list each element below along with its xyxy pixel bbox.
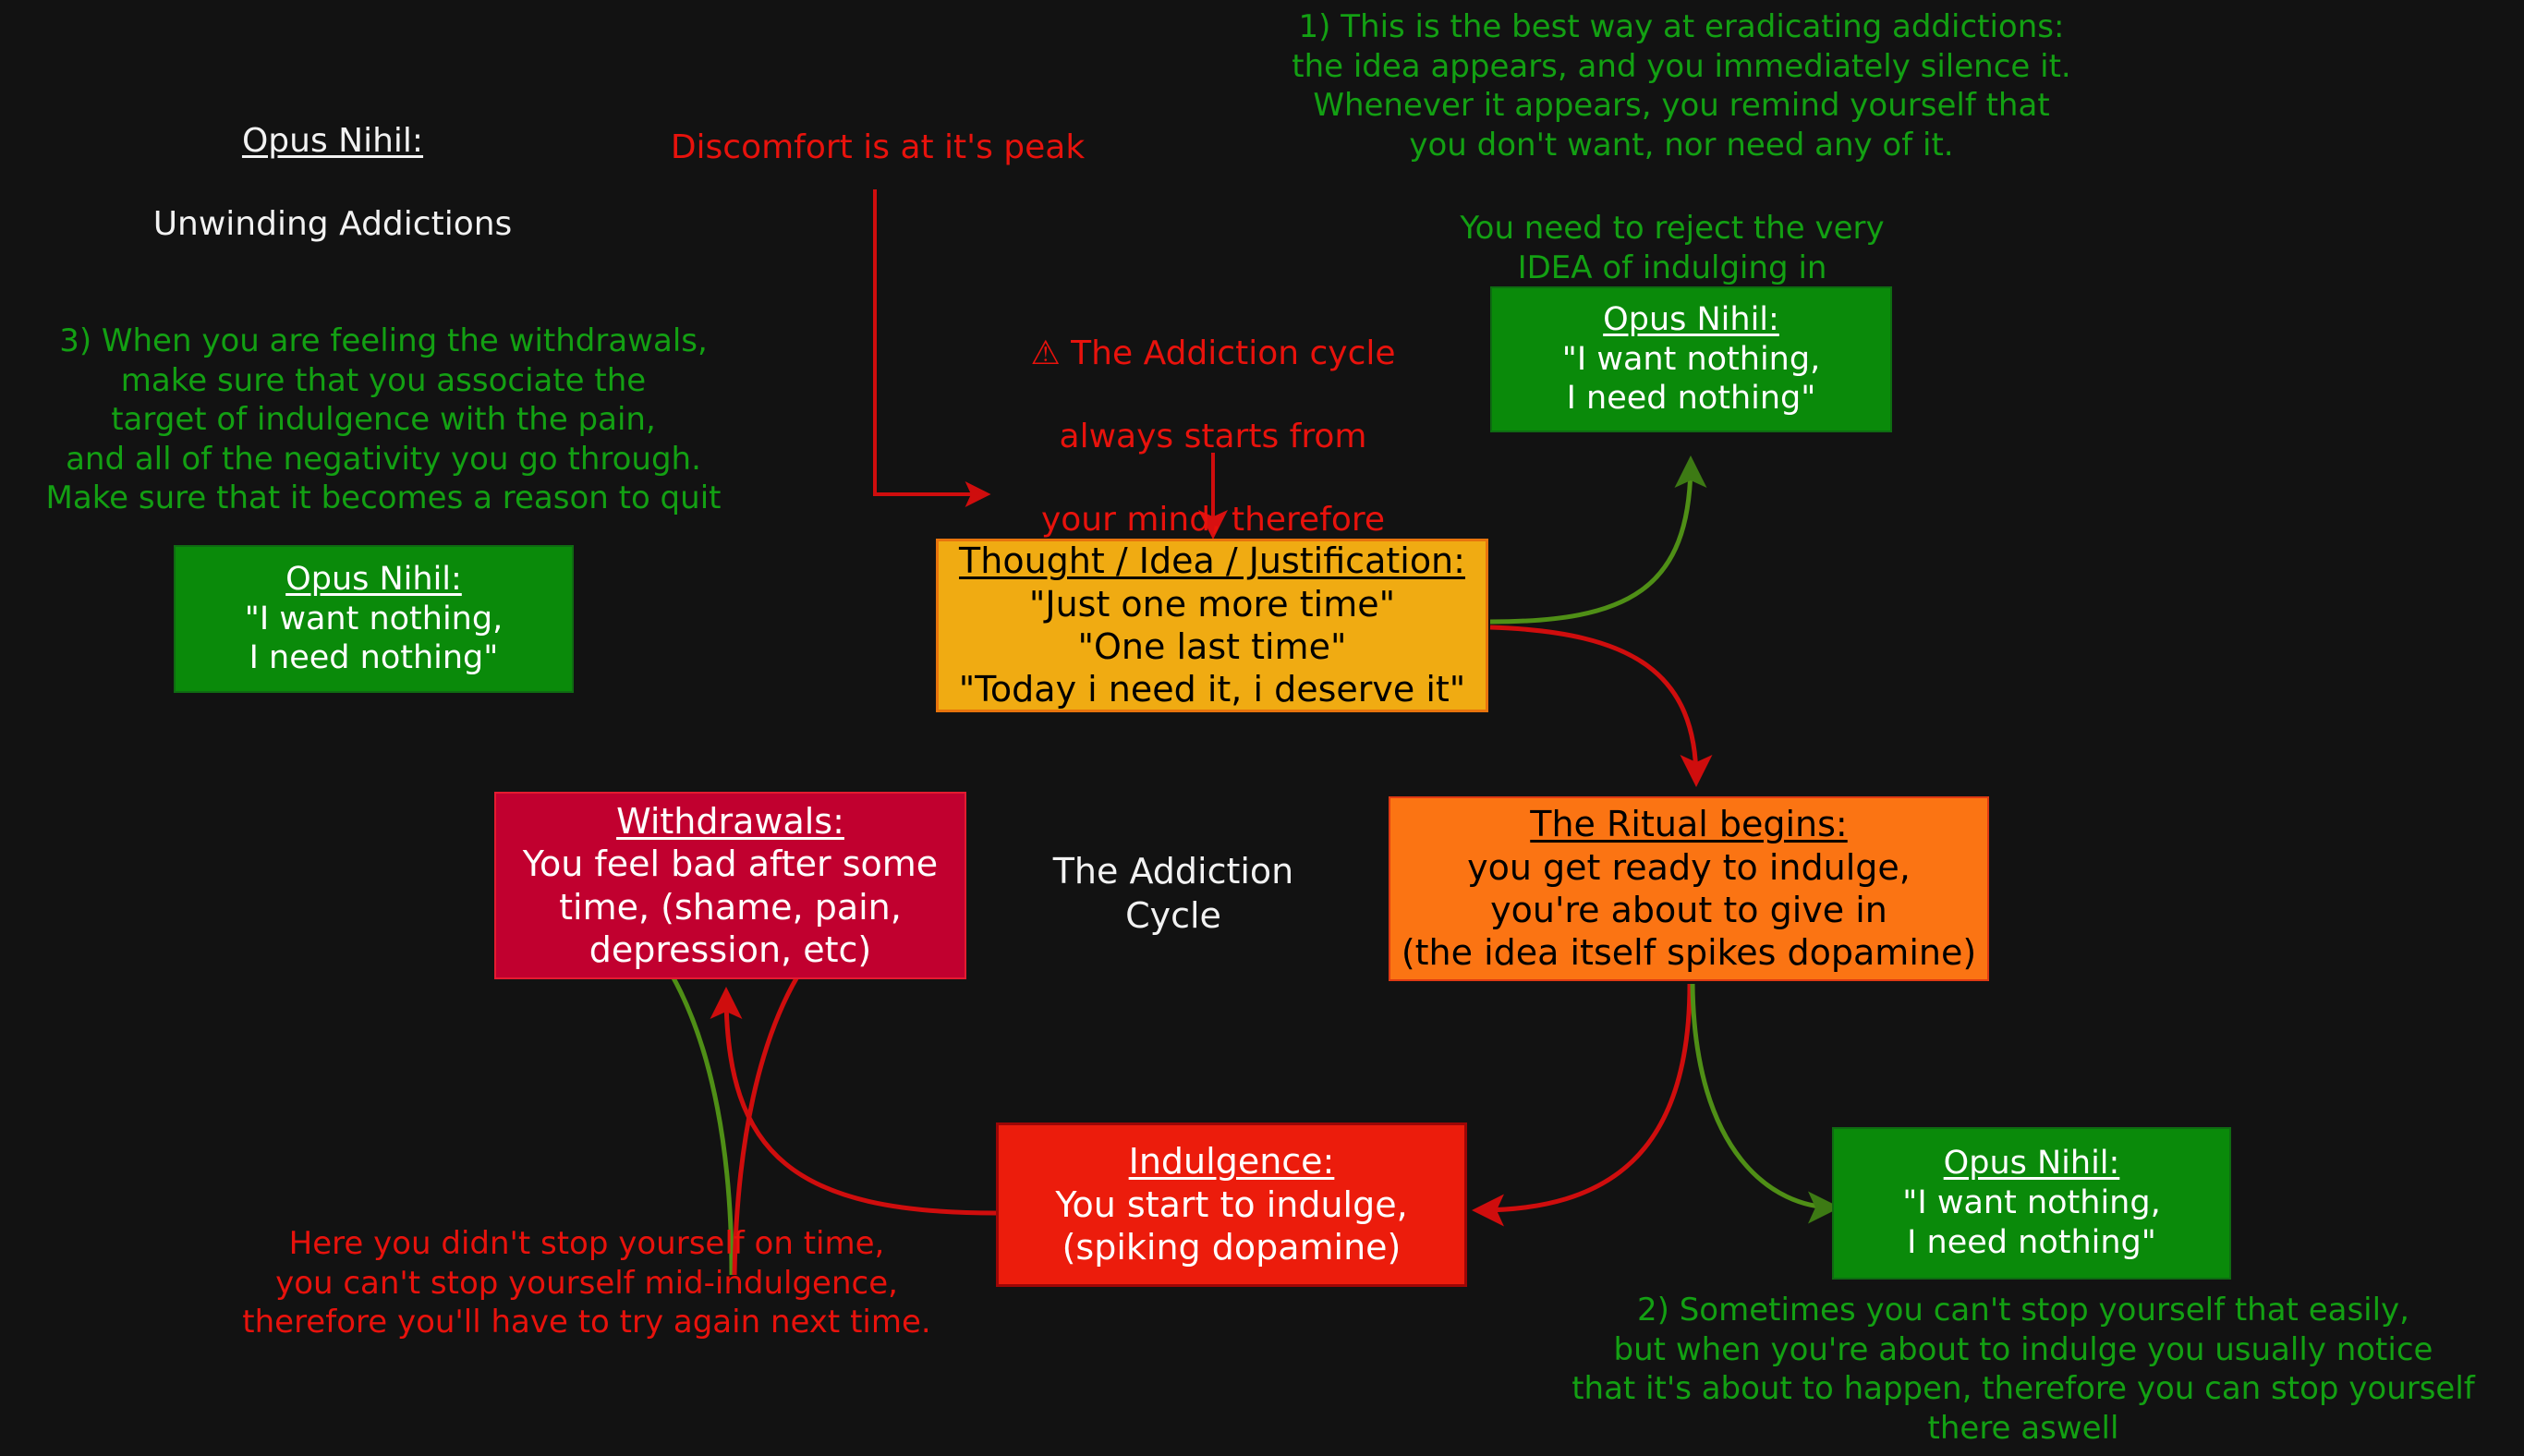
addiction-cycle-diagram: Opus Nihil: Unwinding Addictions Discomf…	[0, 0, 2524, 1456]
node-body: You start to indulge, (spiking dopamine)	[1055, 1183, 1407, 1269]
arrow-thought-to-ritual	[1490, 627, 1696, 781]
node-opus-nihil-left[interactable]: Opus Nihil: "I want nothing, I need noth…	[174, 545, 574, 693]
node-title: Indulgence:	[1129, 1140, 1335, 1183]
node-opus-nihil-bottom-right[interactable]: Opus Nihil: "I want nothing, I need noth…	[1832, 1127, 2231, 1280]
node-title: Withdrawals:	[616, 800, 844, 843]
node-body: "I want nothing, I need nothing"	[245, 600, 503, 678]
page-title: Opus Nihil: Unwinding Addictions	[111, 79, 554, 286]
warning-line-3: your mind, therefore	[1014, 499, 1412, 540]
page-title-line2: Unwinding Addictions	[111, 203, 554, 245]
page-title-line1: Opus Nihil:	[111, 120, 554, 162]
node-withdrawals[interactable]: Withdrawals: You feel bad after some tim…	[494, 792, 966, 979]
node-title: The Ritual begins:	[1530, 803, 1847, 845]
node-the-ritual-begins[interactable]: The Ritual begins: you get ready to indu…	[1389, 796, 1989, 981]
arrow-indulgence-to-withdrawals	[726, 993, 996, 1213]
arrow-discomfort-pointer	[875, 189, 986, 494]
arrow-ritual-to-indulgence	[1478, 984, 1690, 1210]
annotation-note-one: 1) This is the best way at eradicating a…	[1266, 7, 2097, 164]
node-thought-idea-justification[interactable]: Thought / Idea / Justification: "Just on…	[936, 539, 1488, 712]
node-indulgence[interactable]: Indulgence: You start to indulge, (spiki…	[996, 1122, 1467, 1287]
node-body: "I want nothing, I need nothing"	[1562, 340, 1820, 419]
annotation-note-two: 2) Sometimes you can't stop yourself tha…	[1524, 1291, 2522, 1448]
center-label-addiction-cycle: The Addiction Cycle	[1016, 850, 1330, 938]
node-title: Opus Nihil:	[285, 560, 462, 600]
node-title: Opus Nihil:	[1944, 1144, 2120, 1183]
node-body: "Just one more time" "One last time" "To…	[959, 583, 1466, 711]
annotation-no-stop: Here you didn't stop yourself on time, y…	[212, 1224, 961, 1342]
node-body: you get ready to indulge, you're about t…	[1402, 846, 1976, 975]
node-body: "I want nothing, I need nothing"	[1902, 1183, 2160, 1262]
warning-line-2: always starts from	[1014, 416, 1412, 457]
annotation-discomfort-peak: Discomfort is at it's peak	[661, 127, 1095, 168]
node-body: You feel bad after some time, (shame, pa…	[523, 843, 938, 971]
warning-line-1: ⚠ The Addiction cycle	[1014, 333, 1412, 374]
arrow-thought-to-opus-top-right	[1490, 462, 1691, 622]
node-title: Opus Nihil:	[1603, 300, 1779, 340]
annotation-note-three: 3) When you are feeling the withdrawals,…	[9, 322, 758, 518]
node-title: Thought / Idea / Justification:	[959, 540, 1465, 582]
node-opus-nihil-top-right[interactable]: Opus Nihil: "I want nothing, I need noth…	[1490, 286, 1892, 432]
arrow-ritual-to-opus-bottom-right	[1693, 984, 1834, 1207]
